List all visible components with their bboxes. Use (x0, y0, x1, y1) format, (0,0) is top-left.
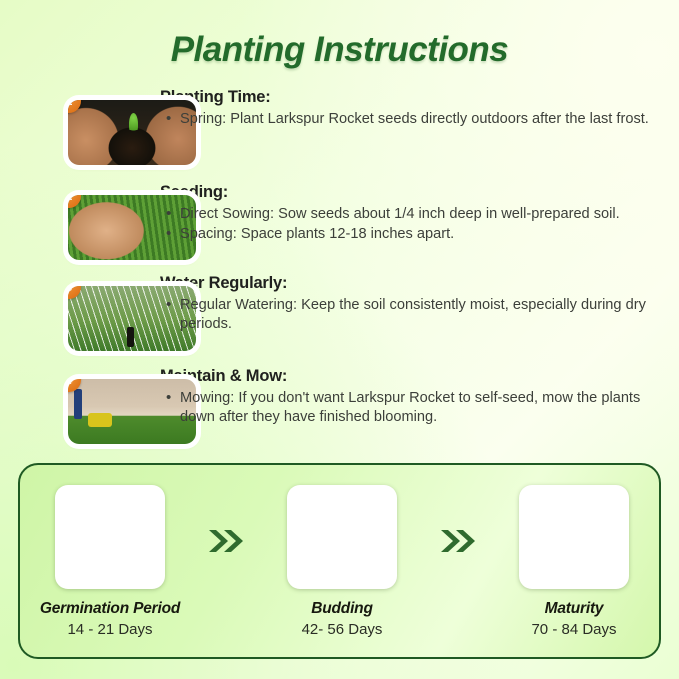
step-item: 1 Planting Time: Spring: Plant Larkspur … (0, 88, 679, 165)
double-chevron-right-icon (432, 526, 484, 556)
page-title: Planting Instructions (0, 30, 679, 70)
step-bullets: Direct Sowing: Sow seeds about 1/4 inch … (160, 205, 659, 244)
timeline-stage-label: Maturity (484, 600, 664, 618)
bullet-item: Regular Watering: Keep the soil consiste… (160, 296, 659, 334)
step-text: Water Regularly: Regular Watering: Keep … (140, 274, 679, 335)
timeline-stage-days: 70 - 84 Days (484, 621, 664, 638)
timeline-stage: Maturity 70 - 84 Days (484, 485, 664, 638)
bullet-item: Spring: Plant Larkspur Rocket seeds dire… (160, 110, 659, 129)
bullet-item: Spacing: Space plants 12-18 inches apart… (160, 225, 659, 244)
sprouting-seed-in-soil-image (55, 485, 165, 589)
double-chevron-right-icon (200, 526, 252, 556)
step-heading: Seeding: (160, 183, 659, 202)
steps-list: 1 Planting Time: Spring: Plant Larkspur … (0, 88, 679, 444)
step-thumbnail-wrap: 3 (0, 274, 140, 351)
timeline-stage-label: Germination Period (20, 600, 200, 618)
timeline-stage: Germination Period 14 - 21 Days (20, 485, 200, 638)
growth-timeline-card: Germination Period 14 - 21 Days Budding … (18, 463, 661, 659)
step-item: 4 Maintain & Mow: Mowing: If you don't w… (0, 367, 679, 444)
purple-larkspur-buds-image (287, 485, 397, 589)
step-bullets: Regular Watering: Keep the soil consiste… (160, 296, 659, 334)
step-bullets: Spring: Plant Larkspur Rocket seeds dire… (160, 110, 659, 129)
step-text: Maintain & Mow: Mowing: If you don't wan… (140, 367, 679, 428)
bullet-item: Mowing: If you don't want Larkspur Rocke… (160, 389, 659, 427)
timeline-stage-days: 42- 56 Days (252, 621, 432, 638)
step-item: 3 Water Regularly: Regular Watering: Kee… (0, 274, 679, 351)
step-bullets: Mowing: If you don't want Larkspur Rocke… (160, 389, 659, 427)
planting-instructions-infographic: Planting Instructions 1 Planting Time: S… (0, 0, 679, 679)
step-text: Planting Time: Spring: Plant Larkspur Ro… (140, 88, 679, 130)
step-thumbnail-wrap: 4 (0, 367, 140, 444)
step-heading: Planting Time: (160, 88, 659, 107)
step-thumbnail-wrap: 2 (0, 183, 140, 260)
step-thumbnail-wrap: 1 (0, 88, 140, 165)
step-text: Seeding: Direct Sowing: Sow seeds about … (140, 183, 679, 245)
step-heading: Maintain & Mow: (160, 367, 659, 386)
timeline-stage: Budding 42- 56 Days (252, 485, 432, 638)
timeline-stage-label: Budding (252, 600, 432, 618)
step-heading: Water Regularly: (160, 274, 659, 293)
bullet-item: Direct Sowing: Sow seeds about 1/4 inch … (160, 205, 659, 224)
step-item: 2 Seeding: Direct Sowing: Sow seeds abou… (0, 183, 679, 260)
timeline-stage-days: 14 - 21 Days (20, 621, 200, 638)
larkspur-flower-field-image (519, 485, 629, 589)
